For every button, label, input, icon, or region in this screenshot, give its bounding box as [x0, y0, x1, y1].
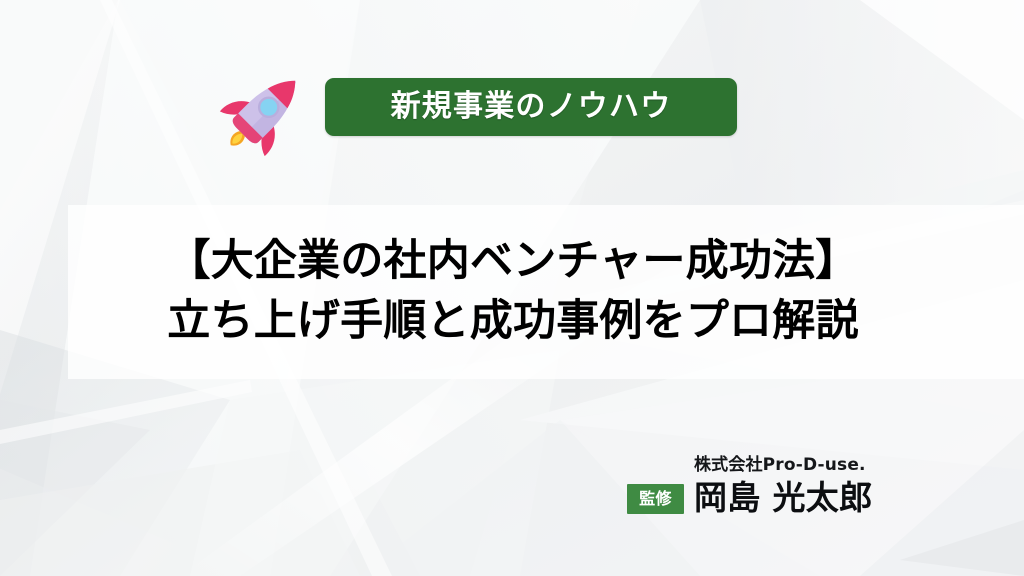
- author-credit: 株式会社Pro-D-use. 監修 岡島 光太郎: [622, 455, 922, 533]
- title-line-1: 【大企業の社内ベンチャー成功法】: [167, 237, 858, 287]
- category-tag-label: 新規事業のノウハウ: [391, 92, 672, 122]
- category-tag[interactable]: 新規事業のノウハウ: [325, 78, 737, 136]
- title-line-2: 立ち上げ手順と成功事例をプロ解説: [167, 297, 858, 347]
- page-title: 【大企業の社内ベンチャー成功法】 立ち上げ手順と成功事例をプロ解説: [68, 205, 958, 379]
- supervisor-badge-label: 監修: [639, 491, 672, 507]
- author-company: 株式会社Pro-D-use.: [694, 455, 866, 475]
- author-name: 岡島 光太郎: [694, 478, 872, 518]
- eyecatch-canvas: 新規事業のノウハウ 【大企業の社内ベンチャー成功法】 立ち上げ手順と成功事例をプ…: [0, 0, 1024, 576]
- supervisor-badge: 監修: [627, 484, 684, 514]
- rocket-icon: [216, 64, 312, 160]
